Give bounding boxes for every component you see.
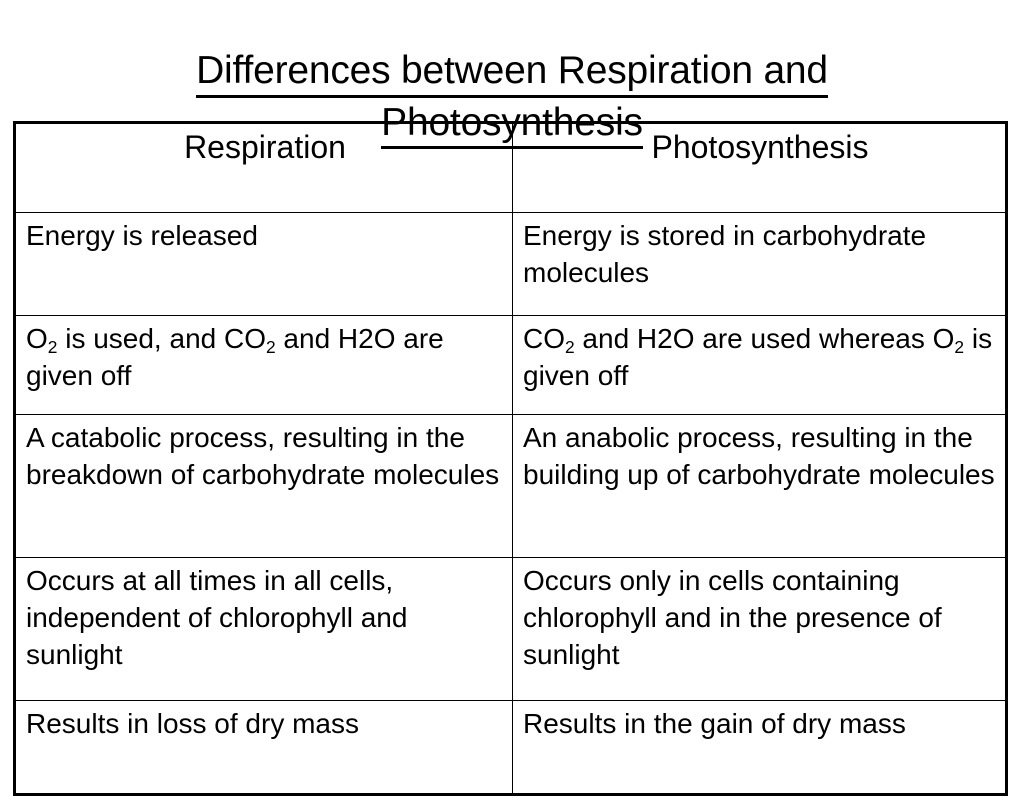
- cell-text-photosynthesis-1: Energy is stored in carbohydrate molecul…: [523, 217, 997, 291]
- cell-photosynthesis-4: Occurs only in cells containing chloroph…: [513, 558, 1007, 701]
- cell-respiration-5: Results in loss of dry mass: [15, 701, 513, 795]
- page-title-line-1: Differences between Respiration and: [196, 48, 828, 98]
- cell-text-photosynthesis-2: CO2 and H2O are used whereas O2 is given…: [523, 320, 997, 394]
- cell-text-photosynthesis-5: Results in the gain of dry mass: [523, 705, 997, 742]
- table-row: Results in loss of dry mass Results in t…: [15, 701, 1007, 795]
- cell-text-respiration-4: Occurs at all times in all cells, indepe…: [26, 562, 504, 674]
- cell-photosynthesis-3: An anabolic process, resulting in the bu…: [513, 415, 1007, 558]
- cell-respiration-2: O2 is used, and CO2 and H2O are given of…: [15, 316, 513, 415]
- page-title-line-2: Photosynthesis: [381, 100, 643, 150]
- cell-respiration-4: Occurs at all times in all cells, indepe…: [15, 558, 513, 701]
- cell-text-photosynthesis-3: An anabolic process, resulting in the bu…: [523, 419, 997, 493]
- table-row: Energy is released Energy is stored in c…: [15, 213, 1007, 316]
- table-row: O2 is used, and CO2 and H2O are given of…: [15, 316, 1007, 415]
- cell-text-photosynthesis-4: Occurs only in cells containing chloroph…: [523, 562, 997, 674]
- cell-text-respiration-2: O2 is used, and CO2 and H2O are given of…: [26, 320, 504, 394]
- cell-photosynthesis-5: Results in the gain of dry mass: [513, 701, 1007, 795]
- table-row: A catabolic process, resulting in the br…: [15, 415, 1007, 558]
- cell-photosynthesis-1: Energy is stored in carbohydrate molecul…: [513, 213, 1007, 316]
- cell-respiration-1: Energy is released: [15, 213, 513, 316]
- cell-text-respiration-3: A catabolic process, resulting in the br…: [26, 419, 504, 493]
- comparison-table: Respiration Photosynthesis Energy is rel…: [13, 121, 1008, 796]
- cell-text-respiration-5: Results in loss of dry mass: [26, 705, 504, 742]
- page-title: Differences between Respiration and Phot…: [0, 48, 1024, 149]
- cell-respiration-3: A catabolic process, resulting in the br…: [15, 415, 513, 558]
- cell-text-respiration-1: Energy is released: [26, 217, 504, 254]
- table-row: Occurs at all times in all cells, indepe…: [15, 558, 1007, 701]
- cell-photosynthesis-2: CO2 and H2O are used whereas O2 is given…: [513, 316, 1007, 415]
